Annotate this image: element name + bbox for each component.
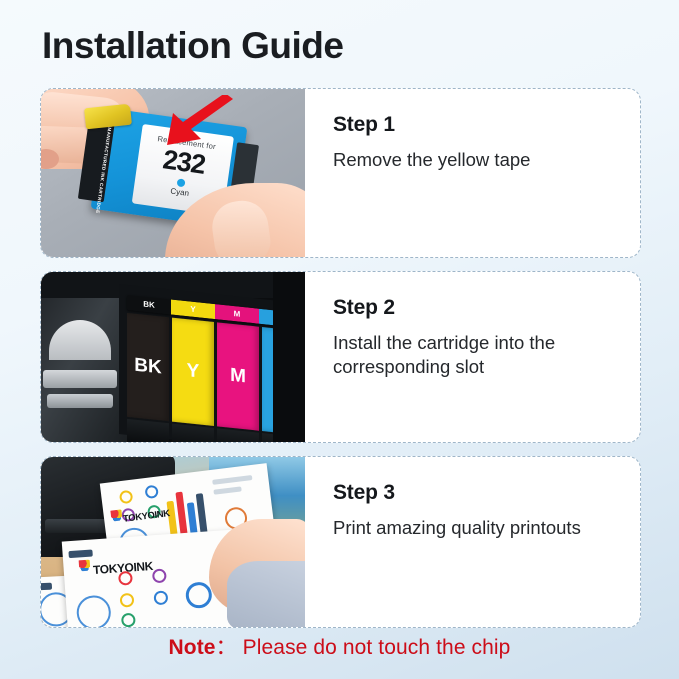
brand-mark-icon: [79, 560, 91, 572]
step-card-1: REMANUFACTURED INK CARTRIDGE Replacement…: [40, 88, 641, 258]
step-3-photo: TOKYOINK TOKYOINK: [41, 457, 305, 627]
page-title: Installation Guide: [42, 26, 343, 67]
steps-list: REMANUFACTURED INK CARTRIDGE Replacement…: [40, 88, 641, 641]
step-2-description: Install the cartridge into the correspon…: [333, 331, 623, 380]
cartridge-slot-y: Y: [172, 318, 214, 426]
step-1-heading: Step 1: [333, 113, 640, 137]
step-2-heading: Step 2: [333, 296, 640, 320]
note-separator: ：: [216, 636, 237, 659]
red-arrow-icon: [161, 95, 235, 151]
step-3-heading: Step 3: [333, 481, 640, 505]
sleeve-illustration: [227, 561, 305, 627]
note-line: Note： Please do not touch the chip: [0, 631, 679, 661]
printer-shadow: [273, 272, 305, 442]
step-3-text: Step 3 Print amazing quality printouts: [305, 457, 640, 627]
step-card-3: TOKYOINK TOKYOINK Step 3 Print amazing q…: [40, 456, 641, 628]
printer-roller: [43, 370, 117, 388]
cartridge-base: [217, 428, 259, 442]
brand-mark-icon: [110, 509, 122, 521]
cartridge-base: [127, 419, 169, 442]
slot-strip-m: M: [215, 304, 259, 324]
printer-roller: [47, 394, 113, 408]
cartridge-slot-bk: BK: [127, 313, 169, 421]
step-2-photo: BK Y M C BK Y M C: [41, 272, 305, 442]
note-label: Note: [169, 636, 216, 659]
note-text: Please do not touch the chip: [243, 636, 511, 659]
step-card-2: BK Y M C BK Y M C: [40, 271, 641, 443]
step-3-description: Print amazing quality printouts: [333, 516, 623, 540]
slot-strip-bk: BK: [127, 295, 171, 315]
slot-strip-y: Y: [171, 299, 215, 319]
cartridge-color-dot: [177, 178, 186, 187]
step-1-description: Remove the yellow tape: [333, 148, 623, 172]
cartridge-slot-m: M: [217, 322, 259, 430]
cartridge-base: [172, 424, 214, 442]
step-1-photo: REMANUFACTURED INK CARTRIDGE Replacement…: [41, 89, 305, 257]
step-1-text: Step 1 Remove the yellow tape: [305, 89, 640, 257]
step-2-text: Step 2 Install the cartridge into the co…: [305, 272, 640, 442]
